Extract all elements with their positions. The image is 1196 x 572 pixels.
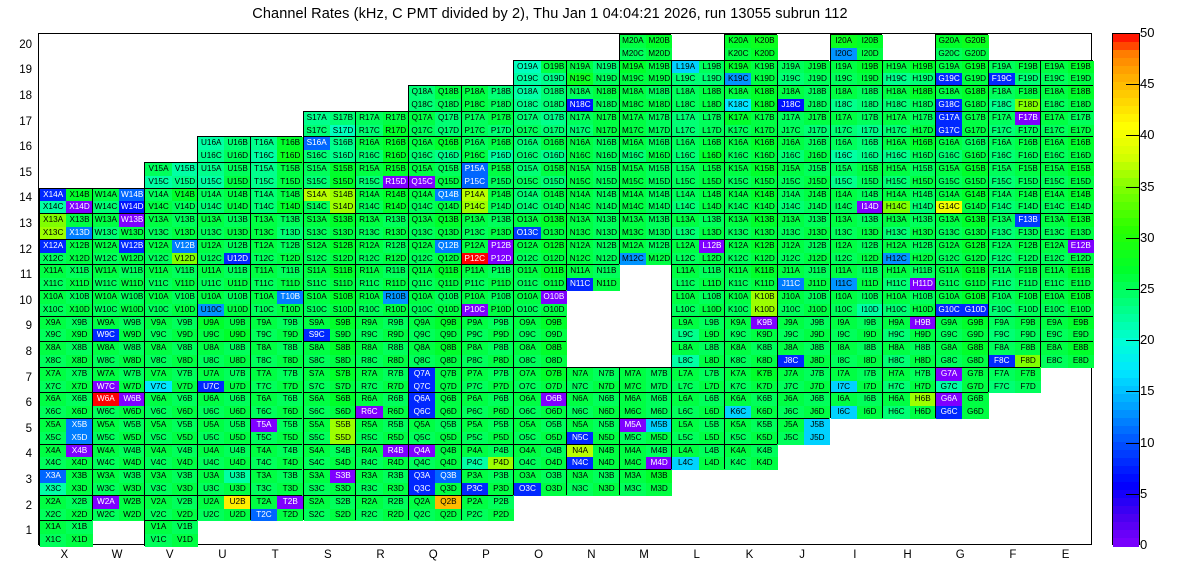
- heatmap-cell[interactable]: X9B: [66, 317, 92, 330]
- heatmap-block[interactable]: H19AH19BH19CH19D: [882, 60, 935, 86]
- heatmap-cell[interactable]: J15A: [778, 163, 804, 176]
- heatmap-block[interactable]: G17AG17BG17CG17D: [935, 111, 988, 137]
- heatmap-cell[interactable]: R8B: [383, 342, 409, 355]
- heatmap-cell[interactable]: P12B: [488, 240, 514, 253]
- heatmap-cell[interactable]: P3A: [462, 470, 488, 483]
- heatmap-cell[interactable]: E19A: [1041, 61, 1067, 74]
- heatmap-cell[interactable]: X12A: [40, 240, 66, 253]
- heatmap-cell[interactable]: O14B: [541, 189, 567, 202]
- heatmap-cell[interactable]: S2B: [330, 496, 356, 509]
- heatmap-block[interactable]: G9AG9BG9CG9D: [935, 316, 988, 342]
- heatmap-cell[interactable]: L19B: [699, 61, 725, 74]
- heatmap-cell[interactable]: K4B: [751, 445, 777, 458]
- heatmap-block[interactable]: G20AG20BG20CG20D: [935, 34, 988, 60]
- heatmap-cell[interactable]: F12B: [1015, 240, 1041, 253]
- heatmap-cell[interactable]: S4B: [330, 445, 356, 458]
- heatmap-cell[interactable]: R2B: [383, 496, 409, 509]
- heatmap-cell[interactable]: G8B: [962, 342, 988, 355]
- heatmap-block[interactable]: L14AL14BL14CL14D: [671, 188, 724, 214]
- heatmap-block[interactable]: P6AP6BP6CP6D: [461, 392, 514, 418]
- heatmap-block[interactable]: Q17AQ17BQ17CQ17D: [408, 111, 461, 137]
- heatmap-cell[interactable]: I6D: [857, 406, 883, 419]
- heatmap-block[interactable]: K8AK8BK8CK8D: [724, 341, 777, 367]
- heatmap-cell[interactable]: G13A: [936, 214, 962, 227]
- heatmap-cell[interactable]: R7B: [383, 368, 409, 381]
- heatmap-cell[interactable]: P3B: [488, 470, 514, 483]
- heatmap-cell[interactable]: K18B: [751, 86, 777, 99]
- heatmap-cell[interactable]: G19B: [962, 61, 988, 74]
- heatmap-cell[interactable]: J19A: [778, 61, 804, 74]
- heatmap-cell[interactable]: H17B: [910, 112, 936, 125]
- heatmap-cell[interactable]: L6B: [699, 393, 725, 406]
- heatmap-cell[interactable]: N3B: [593, 470, 619, 483]
- heatmap-cell[interactable]: I13B: [857, 214, 883, 227]
- heatmap-block[interactable]: E16AE16BE16CE16D: [1040, 136, 1093, 162]
- heatmap-cell[interactable]: F7D: [1015, 381, 1041, 394]
- heatmap-cell[interactable]: M19A: [620, 61, 646, 74]
- heatmap-block[interactable]: X10AX10BX10CX10D: [39, 290, 92, 316]
- heatmap-cell[interactable]: K10A: [725, 291, 751, 304]
- heatmap-block[interactable]: O5AO5BO5CO5D: [513, 418, 566, 444]
- heatmap-cell[interactable]: Q17A: [409, 112, 435, 125]
- heatmap-cell[interactable]: S16B: [330, 137, 356, 150]
- heatmap-cell[interactable]: M4A: [620, 445, 646, 458]
- heatmap-block[interactable]: H8AH8BH8CH8D: [882, 341, 935, 367]
- heatmap-block[interactable]: O13AO13BO13CO13D: [513, 213, 566, 239]
- heatmap-cell[interactable]: Q12B: [435, 240, 461, 253]
- heatmap-block[interactable]: R12AR12BR12CR12D: [355, 239, 408, 265]
- heatmap-block[interactable]: U16AU16BU16CU16D: [197, 136, 250, 162]
- heatmap-cell[interactable]: S15B: [330, 163, 356, 176]
- heatmap-cell[interactable]: V1B: [172, 521, 198, 534]
- heatmap-block[interactable]: W7AW7BW7CW7D: [92, 367, 145, 393]
- heatmap-block[interactable]: J5AJ5BJ5CJ5D: [777, 418, 830, 444]
- heatmap-cell[interactable]: N7A: [567, 368, 593, 381]
- heatmap-block[interactable]: H10AH10BH10CH10D: [882, 290, 935, 316]
- heatmap-cell[interactable]: H17A: [883, 112, 909, 125]
- heatmap-cell[interactable]: O3A: [514, 470, 540, 483]
- heatmap-block[interactable]: F10AF10BF10CF10D: [988, 290, 1041, 316]
- heatmap-cell[interactable]: E16B: [1068, 137, 1094, 150]
- heatmap-block[interactable]: X1AX1BX1CX1D: [39, 520, 92, 546]
- heatmap-cell[interactable]: T13A: [251, 214, 277, 227]
- heatmap-cell[interactable]: M12C: [620, 253, 646, 266]
- heatmap-cell[interactable]: O8B: [541, 342, 567, 355]
- heatmap-block[interactable]: M12AM12BM12CM12D: [619, 239, 672, 265]
- heatmap-block[interactable]: S3AS3BS3CS3D: [303, 469, 356, 495]
- heatmap-cell[interactable]: S8B: [330, 342, 356, 355]
- heatmap-block[interactable]: N13AN13BN13CN13D: [566, 213, 619, 239]
- heatmap-cell[interactable]: X12B: [66, 240, 92, 253]
- heatmap-cell[interactable]: P11B: [488, 265, 514, 278]
- heatmap-block[interactable]: Q18AQ18BQ18CQ18D: [408, 85, 461, 111]
- heatmap-cell[interactable]: I10A: [831, 291, 857, 304]
- heatmap-cell[interactable]: R4B: [383, 445, 409, 458]
- heatmap-cell[interactable]: X3A: [40, 470, 66, 483]
- heatmap-block[interactable]: T3AT3BT3CT3D: [250, 469, 303, 495]
- heatmap-cell[interactable]: S13A: [304, 214, 330, 227]
- heatmap-block[interactable]: L7AL7BL7CL7D: [671, 367, 724, 393]
- heatmap-cell[interactable]: P16B: [488, 137, 514, 150]
- heatmap-cell[interactable]: N16B: [593, 137, 619, 150]
- heatmap-cell[interactable]: L17A: [672, 112, 698, 125]
- heatmap-block[interactable]: U5AU5BU5CU5D: [197, 418, 250, 444]
- heatmap-block[interactable]: R5AR5BR5CR5D: [355, 418, 408, 444]
- heatmap-cell[interactable]: N3C: [567, 483, 593, 496]
- heatmap-cell[interactable]: L4D: [699, 457, 725, 470]
- heatmap-cell[interactable]: S12B: [330, 240, 356, 253]
- heatmap-cell[interactable]: P9B: [488, 317, 514, 330]
- heatmap-cell[interactable]: T2A: [251, 496, 277, 509]
- heatmap-cell[interactable]: M12A: [620, 240, 646, 253]
- heatmap-block[interactable]: K18AK18BK18CK18D: [724, 85, 777, 111]
- heatmap-cell[interactable]: X5B: [66, 419, 92, 432]
- heatmap-block[interactable]: F8AF8BF8CF8D: [988, 341, 1041, 367]
- heatmap-cell[interactable]: J11A: [778, 265, 804, 278]
- heatmap-cell[interactable]: F8A: [989, 342, 1015, 355]
- heatmap-block[interactable]: U14AU14BU14CU14D: [197, 188, 250, 214]
- heatmap-cell[interactable]: W14B: [119, 189, 145, 202]
- heatmap-cell[interactable]: M17A: [620, 112, 646, 125]
- heatmap-block[interactable]: R15AR15BR15CR15D: [355, 162, 408, 188]
- heatmap-cell[interactable]: H10B: [910, 291, 936, 304]
- heatmap-cell[interactable]: M12B: [646, 240, 672, 253]
- heatmap-cell[interactable]: K8B: [751, 342, 777, 355]
- heatmap-block[interactable]: K7AK7BK7CK7D: [724, 367, 777, 393]
- heatmap-block[interactable]: T12AT12BT12CT12D: [250, 239, 303, 265]
- heatmap-cell[interactable]: P14A: [462, 189, 488, 202]
- heatmap-block[interactable]: P17AP17BP17CP17D: [461, 111, 514, 137]
- heatmap-block[interactable]: E17AE17BE17CE17D: [1040, 111, 1093, 137]
- heatmap-cell[interactable]: N19B: [593, 61, 619, 74]
- heatmap-cell[interactable]: S2D: [330, 509, 356, 522]
- heatmap-cell[interactable]: U8B: [224, 342, 250, 355]
- heatmap-block[interactable]: I19AI19BI19CI19D: [830, 60, 883, 86]
- heatmap-cell[interactable]: P6B: [488, 393, 514, 406]
- heatmap-cell[interactable]: H6C: [883, 406, 909, 419]
- heatmap-block[interactable]: S8AS8BS8CS8D: [303, 341, 356, 367]
- heatmap-cell[interactable]: M3B: [646, 470, 672, 483]
- heatmap-cell[interactable]: W2A: [93, 496, 119, 509]
- heatmap-block[interactable]: T13AT13BT13CT13D: [250, 213, 303, 239]
- heatmap-cell[interactable]: V12A: [145, 240, 171, 253]
- heatmap-cell[interactable]: U5B: [224, 419, 250, 432]
- heatmap-cell[interactable]: V14A: [145, 189, 171, 202]
- heatmap-cell[interactable]: I6C: [831, 406, 857, 419]
- heatmap-cell[interactable]: E18B: [1068, 86, 1094, 99]
- heatmap-cell[interactable]: X11B: [66, 265, 92, 278]
- heatmap-cell[interactable]: P2A: [462, 496, 488, 509]
- heatmap-cell[interactable]: J8A: [778, 342, 804, 355]
- heatmap-cell[interactable]: M15B: [646, 163, 672, 176]
- heatmap-block[interactable]: W3AW3BW3CW3D: [92, 469, 145, 495]
- heatmap-block[interactable]: J19AJ19BJ19CJ19D: [777, 60, 830, 86]
- heatmap-block[interactable]: U13AU13BU13CU13D: [197, 213, 250, 239]
- heatmap-block[interactable]: U7AU7BU7CU7D: [197, 367, 250, 393]
- heatmap-block[interactable]: E11AE11BE11CE11D: [1040, 264, 1093, 290]
- heatmap-cell[interactable]: T12A: [251, 240, 277, 253]
- heatmap-cell[interactable]: N3D: [593, 483, 619, 496]
- heatmap-cell[interactable]: Q13A: [409, 214, 435, 227]
- heatmap-cell[interactable]: K7A: [725, 368, 751, 381]
- heatmap-block[interactable]: K19AK19BK19CK19D: [724, 60, 777, 86]
- heatmap-cell[interactable]: E17B: [1068, 112, 1094, 125]
- heatmap-block[interactable]: R2AR2BR2CR2D: [355, 495, 408, 521]
- heatmap-block[interactable]: W12AW12BW12CW12D: [92, 239, 145, 265]
- heatmap-block[interactable]: M4AM4BM4CM4D: [619, 444, 672, 470]
- heatmap-block[interactable]: T16AT16BT16CT16D: [250, 136, 303, 162]
- heatmap-cell[interactable]: F10A: [989, 291, 1015, 304]
- heatmap-block[interactable]: V4AV4BV4CV4D: [144, 444, 197, 470]
- heatmap-cell[interactable]: H19B: [910, 61, 936, 74]
- heatmap-cell[interactable]: M20A: [620, 35, 646, 48]
- heatmap-cell[interactable]: F13A: [989, 214, 1015, 227]
- heatmap-cell[interactable]: X1D: [66, 534, 92, 547]
- heatmap-block[interactable]: K6AK6BK6CK6D: [724, 392, 777, 418]
- heatmap-cell[interactable]: Q4A: [409, 445, 435, 458]
- heatmap-cell[interactable]: R4A: [356, 445, 382, 458]
- heatmap-cell[interactable]: U9A: [198, 317, 224, 330]
- heatmap-cell[interactable]: W11A: [93, 265, 119, 278]
- heatmap-block[interactable]: I10AI10BI10CI10D: [830, 290, 883, 316]
- heatmap-cell[interactable]: T8B: [277, 342, 303, 355]
- heatmap-cell[interactable]: V3A: [145, 470, 171, 483]
- heatmap-cell[interactable]: P12A: [462, 240, 488, 253]
- heatmap-cell[interactable]: L4A: [672, 445, 698, 458]
- heatmap-cell[interactable]: G8A: [936, 342, 962, 355]
- heatmap-cell[interactable]: T16B: [277, 137, 303, 150]
- heatmap-block[interactable]: T4AT4BT4CT4D: [250, 444, 303, 470]
- heatmap-cell[interactable]: J6B: [804, 393, 830, 406]
- heatmap-cell[interactable]: L6A: [672, 393, 698, 406]
- heatmap-cell[interactable]: H13A: [883, 214, 909, 227]
- heatmap-cell[interactable]: S7A: [304, 368, 330, 381]
- heatmap-cell[interactable]: F14A: [989, 189, 1015, 202]
- heatmap-cell[interactable]: K19B: [751, 61, 777, 74]
- heatmap-block[interactable]: I6AI6BI6CI6D: [830, 392, 883, 418]
- heatmap-block[interactable]: S15AS15BS15CS15D: [303, 162, 356, 188]
- heatmap-block[interactable]: T7AT7BT7CT7D: [250, 367, 303, 393]
- heatmap-cell[interactable]: T13B: [277, 214, 303, 227]
- heatmap-block[interactable]: K20AK20BK20CK20D: [724, 34, 777, 60]
- heatmap-block[interactable]: G6AG6BG6CG6D: [935, 392, 988, 418]
- heatmap-cell[interactable]: P11A: [462, 265, 488, 278]
- heatmap-cell[interactable]: S5B: [330, 419, 356, 432]
- heatmap-cell[interactable]: T11B: [277, 265, 303, 278]
- heatmap-block[interactable]: K5AK5BK5CK5D: [724, 418, 777, 444]
- heatmap-cell[interactable]: V14B: [172, 189, 198, 202]
- heatmap-cell[interactable]: S5A: [304, 419, 330, 432]
- heatmap-cell[interactable]: S2A: [304, 496, 330, 509]
- heatmap-block[interactable]: M18AM18BM18CM18D: [619, 85, 672, 111]
- heatmap-cell[interactable]: X2B: [66, 496, 92, 509]
- heatmap-block[interactable]: N15AN15BN15CN15D: [566, 162, 619, 188]
- heatmap-cell[interactable]: Q11B: [435, 265, 461, 278]
- heatmap-cell[interactable]: K13A: [725, 214, 751, 227]
- heatmap-cell[interactable]: O6A: [514, 393, 540, 406]
- heatmap-cell[interactable]: U11A: [198, 265, 224, 278]
- heatmap-cell[interactable]: F12A: [989, 240, 1015, 253]
- heatmap-cell[interactable]: O18B: [541, 86, 567, 99]
- heatmap-block[interactable]: H14AH14BH14CH14D: [882, 188, 935, 214]
- heatmap-cell[interactable]: L7A: [672, 368, 698, 381]
- heatmap-cell[interactable]: W2C: [93, 509, 119, 522]
- heatmap-block[interactable]: I12AI12BI12CI12D: [830, 239, 883, 265]
- heatmap-cell[interactable]: Q9A: [409, 317, 435, 330]
- heatmap-cell[interactable]: M19B: [646, 61, 672, 74]
- heatmap-cell[interactable]: T8A: [251, 342, 277, 355]
- heatmap-block[interactable]: V14AV14BV14CV14D: [144, 188, 197, 214]
- heatmap-cell[interactable]: Q14B: [435, 189, 461, 202]
- heatmap-cell[interactable]: E10B: [1068, 291, 1094, 304]
- heatmap-cell[interactable]: I19B: [857, 61, 883, 74]
- heatmap-cell[interactable]: U4B: [224, 445, 250, 458]
- heatmap-cell[interactable]: Q16B: [435, 137, 461, 150]
- heatmap-block[interactable]: S12AS12BS12CS12D: [303, 239, 356, 265]
- heatmap-cell[interactable]: G15A: [936, 163, 962, 176]
- heatmap-block[interactable]: N18AN18BN18CN18D: [566, 85, 619, 111]
- heatmap-cell[interactable]: X9A: [40, 317, 66, 330]
- heatmap-block[interactable]: X6AX6BX6CX6D: [39, 392, 92, 418]
- heatmap-cell[interactable]: Q7B: [435, 368, 461, 381]
- heatmap-cell[interactable]: V9A: [145, 317, 171, 330]
- heatmap-cell[interactable]: W13A: [93, 214, 119, 227]
- heatmap-block[interactable]: K14AK14BK14CK14D: [724, 188, 777, 214]
- heatmap-cell[interactable]: I9A: [831, 317, 857, 330]
- heatmap-cell[interactable]: O8A: [514, 342, 540, 355]
- heatmap-block[interactable]: V12AV12BV12CV12D: [144, 239, 197, 265]
- heatmap-block[interactable]: J18AJ18BJ18CJ18D: [777, 85, 830, 111]
- heatmap-block[interactable]: W11AW11BW11CW11D: [92, 264, 145, 290]
- heatmap-cell[interactable]: L8A: [672, 342, 698, 355]
- heatmap-cell[interactable]: N6A: [567, 393, 593, 406]
- heatmap-cell[interactable]: G15B: [962, 163, 988, 176]
- heatmap-block[interactable]: O6AO6BO6CO6D: [513, 392, 566, 418]
- heatmap-cell[interactable]: J8B: [804, 342, 830, 355]
- heatmap-cell[interactable]: Q15B: [435, 163, 461, 176]
- heatmap-cell[interactable]: G7B: [962, 368, 988, 381]
- heatmap-cell[interactable]: V1C: [145, 534, 171, 547]
- heatmap-block[interactable]: J14AJ14BJ14CJ14D: [777, 188, 830, 214]
- heatmap-cell[interactable]: T16A: [251, 137, 277, 150]
- heatmap-block[interactable]: N19AN19BN19CN19D: [566, 60, 619, 86]
- heatmap-cell[interactable]: K11A: [725, 265, 751, 278]
- heatmap-cell[interactable]: J17A: [778, 112, 804, 125]
- heatmap-cell[interactable]: P5B: [488, 419, 514, 432]
- heatmap-cell[interactable]: R12A: [356, 240, 382, 253]
- heatmap-cell[interactable]: I6A: [831, 393, 857, 406]
- heatmap-block[interactable]: M3AM3BM3CM3D: [619, 469, 672, 495]
- heatmap-cell[interactable]: U8A: [198, 342, 224, 355]
- heatmap-block[interactable]: R13AR13BR13CR13D: [355, 213, 408, 239]
- heatmap-block[interactable]: U6AU6BU6CU6D: [197, 392, 250, 418]
- heatmap-block[interactable]: I7AI7BI7CI7D: [830, 367, 883, 393]
- heatmap-cell[interactable]: R14A: [356, 189, 382, 202]
- heatmap-block[interactable]: R10AR10BR10CR10D: [355, 290, 408, 316]
- heatmap-cell[interactable]: M16B: [646, 137, 672, 150]
- heatmap-cell[interactable]: J5D: [804, 432, 830, 445]
- heatmap-cell[interactable]: V5A: [145, 419, 171, 432]
- heatmap-cell[interactable]: T4B: [277, 445, 303, 458]
- heatmap-block[interactable]: E14AE14BE14CE14D: [1040, 188, 1093, 214]
- heatmap-block[interactable]: I17AI17BI17CI17D: [830, 111, 883, 137]
- heatmap-cell[interactable]: V15B: [172, 163, 198, 176]
- heatmap-cell[interactable]: I10B: [857, 291, 883, 304]
- heatmap-cell[interactable]: O3C: [514, 483, 540, 496]
- heatmap-cell[interactable]: K6A: [725, 393, 751, 406]
- heatmap-block[interactable]: R6AR6BR6CR6D: [355, 392, 408, 418]
- heatmap-cell[interactable]: I17A: [831, 112, 857, 125]
- heatmap-cell[interactable]: R16B: [383, 137, 409, 150]
- heatmap-block[interactable]: P4AP4BP4CP4D: [461, 444, 514, 470]
- heatmap-cell[interactable]: L5A: [672, 419, 698, 432]
- heatmap-cell[interactable]: E11A: [1041, 265, 1067, 278]
- heatmap-block[interactable]: I15AI15BI15CI15D: [830, 162, 883, 188]
- heatmap-cell[interactable]: I14A: [831, 189, 857, 202]
- heatmap-cell[interactable]: X1C: [40, 534, 66, 547]
- heatmap-cell[interactable]: U15B: [224, 163, 250, 176]
- heatmap-cell[interactable]: M15A: [620, 163, 646, 176]
- heatmap-cell[interactable]: G10A: [936, 291, 962, 304]
- heatmap-block[interactable]: S6AS6BS6CS6D: [303, 392, 356, 418]
- heatmap-block[interactable]: V5AV5BV5CV5D: [144, 418, 197, 444]
- heatmap-cell[interactable]: T14A: [251, 189, 277, 202]
- heatmap-cell[interactable]: T14B: [277, 189, 303, 202]
- heatmap-cell[interactable]: K12A: [725, 240, 751, 253]
- heatmap-cell[interactable]: R14B: [383, 189, 409, 202]
- heatmap-cell[interactable]: F15B: [1015, 163, 1041, 176]
- heatmap-block[interactable]: X9AX9BX9CX9D: [39, 316, 92, 342]
- heatmap-block[interactable]: O12AO12BO12CO12D: [513, 239, 566, 265]
- heatmap-cell[interactable]: J16A: [778, 137, 804, 150]
- heatmap-block[interactable]: Q16AQ16BQ16CQ16D: [408, 136, 461, 162]
- heatmap-block[interactable]: O8AO8BO8CO8D: [513, 341, 566, 367]
- heatmap-cell[interactable]: J16B: [804, 137, 830, 150]
- heatmap-block[interactable]: R4AR4BR4CR4D: [355, 444, 408, 470]
- heatmap-cell[interactable]: N15A: [567, 163, 593, 176]
- heatmap-block[interactable]: S9AS9BS9CS9D: [303, 316, 356, 342]
- heatmap-cell[interactable]: G19A: [936, 61, 962, 74]
- heatmap-cell[interactable]: Q15A: [409, 163, 435, 176]
- heatmap-cell[interactable]: U3B: [224, 470, 250, 483]
- heatmap-block[interactable]: X4AX4BX4CX4D: [39, 444, 92, 470]
- heatmap-cell[interactable]: M7B: [646, 368, 672, 381]
- heatmap-cell[interactable]: O14A: [514, 189, 540, 202]
- heatmap-block[interactable]: I8AI8BI8CI8D: [830, 341, 883, 367]
- heatmap-block[interactable]: O7AO7BO7CO7D: [513, 367, 566, 393]
- heatmap-cell[interactable]: Q10A: [409, 291, 435, 304]
- heatmap-cell[interactable]: M7A: [620, 368, 646, 381]
- heatmap-cell[interactable]: F16B: [1015, 137, 1041, 150]
- heatmap-cell[interactable]: G12B: [962, 240, 988, 253]
- heatmap-block[interactable]: M7AM7BM7CM7D: [619, 367, 672, 393]
- heatmap-block[interactable]: P12AP12BP12CP12D: [461, 239, 514, 265]
- heatmap-cell[interactable]: P10B: [488, 291, 514, 304]
- heatmap-cell[interactable]: V11A: [145, 265, 171, 278]
- heatmap-cell[interactable]: O6B: [541, 393, 567, 406]
- heatmap-cell[interactable]: E16A: [1041, 137, 1067, 150]
- heatmap-cell[interactable]: G9A: [936, 317, 962, 330]
- heatmap-cell[interactable]: Q3B: [435, 470, 461, 483]
- heatmap-block[interactable]: H9AH9BH9CH9D: [882, 316, 935, 342]
- heatmap-cell[interactable]: Q12A: [409, 240, 435, 253]
- heatmap-cell[interactable]: Q9B: [435, 317, 461, 330]
- heatmap-cell[interactable]: M3C: [620, 483, 646, 496]
- heatmap-cell[interactable]: J9A: [778, 317, 804, 330]
- heatmap-cell[interactable]: O18A: [514, 86, 540, 99]
- heatmap-block[interactable]: E19AE19BE19CE19D: [1040, 60, 1093, 86]
- heatmap-cell[interactable]: F9A: [989, 317, 1015, 330]
